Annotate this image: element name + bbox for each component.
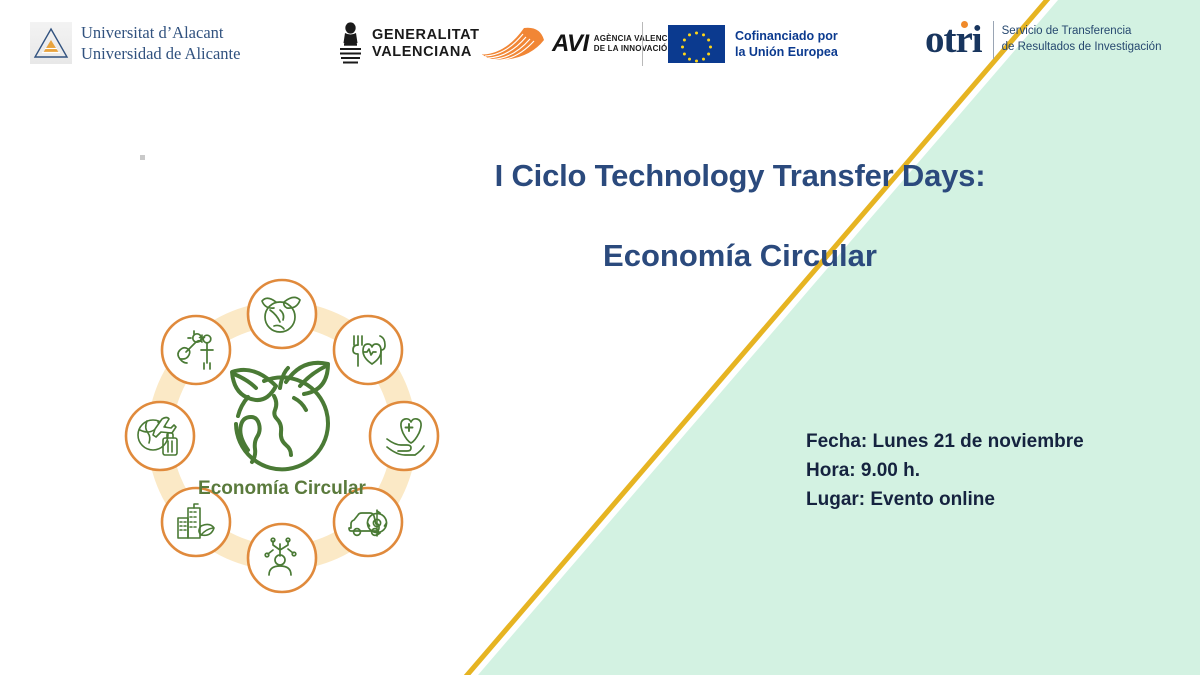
event-detail-place: Lugar: Evento online bbox=[806, 486, 1084, 515]
ua-logo-line1: Universitat d’Alacant bbox=[81, 22, 240, 43]
header-divider bbox=[642, 22, 643, 66]
event-detail-time: Hora: 9.00 h. bbox=[806, 457, 1084, 486]
otri-wordmark-text: otri bbox=[925, 18, 982, 61]
decorative-marker-dot bbox=[140, 155, 145, 160]
economia-circular-wheel-graphic: Economía Circular bbox=[104, 262, 460, 610]
event-detail-date: Fecha: Lunes 21 de noviembre bbox=[806, 428, 1084, 457]
avi-wordmark: AVI bbox=[552, 30, 589, 58]
wheel-node-turismo bbox=[126, 402, 194, 470]
event-details: Fecha: Lunes 21 de noviembre Hora: 9.00 … bbox=[806, 428, 1084, 515]
gva-logo-text: GENERALITAT VALENCIANA bbox=[372, 27, 480, 62]
wheel-node-alimentacion bbox=[334, 316, 402, 384]
gva-shield-icon bbox=[337, 22, 364, 66]
otri-tagline-line2: de Resultados de Investigación bbox=[1002, 40, 1162, 56]
eu-logo-text: Cofinanciado por la Unión Europea bbox=[735, 28, 838, 60]
logo-generalitat-valenciana: GENERALITAT VALENCIANA bbox=[337, 22, 480, 66]
wheel-node-digitalizacion bbox=[248, 524, 316, 592]
title-line-2: Economía Circular bbox=[440, 238, 1040, 274]
ua-logo-line2: Universidad de Alicante bbox=[81, 43, 240, 64]
otri-tagline: Servicio de Transferencia de Resultados … bbox=[1002, 24, 1162, 55]
logo-union-europea: Cofinanciado por la Unión Europea bbox=[668, 25, 838, 63]
gva-logo-line1: GENERALITAT bbox=[372, 27, 480, 44]
logo-avi: AVI AGÈNCIA VALENCIANA DE LA INNOVACIÓ bbox=[480, 24, 688, 64]
otri-divider bbox=[993, 21, 994, 59]
otri-tagline-line1: Servicio de Transferencia bbox=[1002, 24, 1162, 40]
eu-flag-icon bbox=[668, 25, 725, 63]
wheel-node-medio-ambiente bbox=[248, 280, 316, 348]
gva-logo-line2: VALENCIANA bbox=[372, 44, 480, 61]
ua-triangle-icon bbox=[30, 22, 72, 64]
logo-otri: otri Servicio de Transferencia de Result… bbox=[925, 20, 1161, 59]
wheel-center-globe-icon bbox=[232, 363, 328, 470]
otri-dot-icon bbox=[961, 21, 968, 28]
header-logo-bar: Universitat d’Alacant Universidad de Ali… bbox=[0, 0, 1200, 88]
eu-logo-line1: Cofinanciado por bbox=[735, 28, 838, 44]
eu-logo-line2: la Unión Europea bbox=[735, 44, 838, 60]
logo-universidad-de-alicante: Universitat d’Alacant Universidad de Ali… bbox=[30, 22, 240, 64]
wheel-node-bienestar-social bbox=[162, 316, 230, 384]
ua-logo-text: Universitat d’Alacant Universidad de Ali… bbox=[81, 22, 240, 64]
slide-title: I Ciclo Technology Transfer Days: Econom… bbox=[440, 158, 1040, 274]
avi-swoosh-icon bbox=[480, 24, 548, 64]
wheel-center-label: Economía Circular bbox=[198, 478, 366, 499]
title-line-1: I Ciclo Technology Transfer Days: bbox=[440, 158, 1040, 194]
slide-canvas: Universitat d’Alacant Universidad de Ali… bbox=[0, 0, 1200, 675]
footer-logo-bar: aiju INSTITUTO TECNOLÓGICO DE PRODUCTO I… bbox=[0, 612, 1200, 675]
wheel-node-salud bbox=[370, 402, 438, 470]
otri-wordmark: otri bbox=[925, 20, 991, 59]
